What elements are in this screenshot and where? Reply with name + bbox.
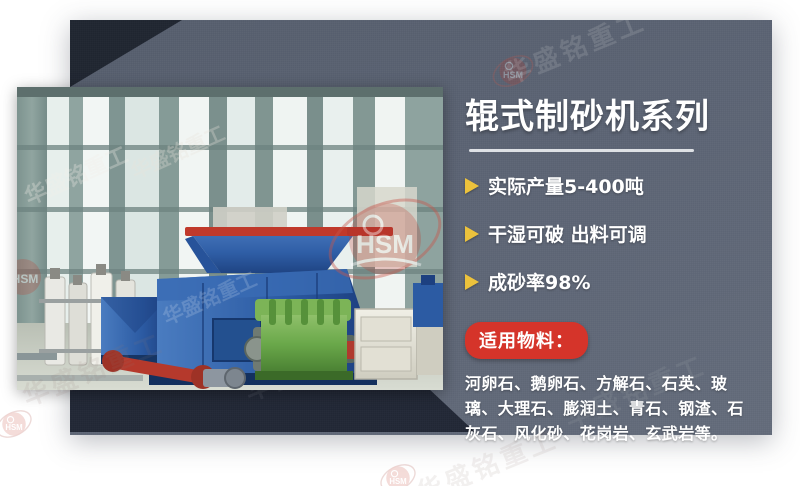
hsm-logo-icon: HSM [490, 48, 536, 94]
feature-label: 干湿可破 出料可调 [488, 220, 647, 247]
hsm-logo-icon: HSM [378, 458, 418, 486]
list-item: 干湿可破 出料可调 [465, 220, 765, 247]
arrow-right-icon [465, 274, 479, 290]
feature-label: 成砂率98% [488, 268, 590, 295]
title-divider [469, 149, 694, 152]
svg-text:HSM: HSM [503, 70, 523, 80]
product-photo-image: 华盛铭重工 华盛铭重工 华盛铭重工 HSM HSM [17, 87, 443, 390]
hsm-logo-icon: HSM [0, 404, 34, 444]
materials-text: 河卵石、鹅卵石、方解石、石英、玻璃、大理石、膨润土、青石、钢渣、石灰石、风化砂、… [465, 371, 760, 446]
watermark-brand-top: 华盛铭重工 [499, 20, 652, 92]
watermark-logo-outer-left: HSM [0, 404, 34, 448]
page-title: 辊式制砂机系列 [465, 95, 765, 139]
svg-text:HSM: HSM [5, 423, 22, 432]
feature-label: 实际产量5-400吨 [488, 172, 644, 199]
watermark-logo-outer-bottom: HSM [378, 458, 418, 486]
list-item: 实际产量5-400吨 [465, 172, 765, 199]
panel-corner-wedge [70, 20, 260, 87]
status-badge: 适用物料： [465, 322, 588, 359]
list-item: 成砂率98% [465, 268, 765, 295]
slide-canvas: HSM 华盛铭重工 华盛铭重工 HSM 华盛铭重工 [0, 0, 800, 486]
arrow-right-icon [465, 226, 479, 242]
svg-text:HSM: HSM [17, 272, 38, 286]
product-info: 辊式制砂机系列 实际产量5-400吨 干湿可破 出料可调 成砂率98% 适用物料… [465, 95, 765, 446]
watermark-logo-top: HSM [490, 48, 536, 94]
svg-text:HSM: HSM [389, 477, 406, 486]
arrow-right-icon [465, 178, 479, 194]
product-photo: 华盛铭重工 华盛铭重工 华盛铭重工 HSM HSM [17, 87, 443, 390]
feature-list: 实际产量5-400吨 干湿可破 出料可调 成砂率98% [465, 172, 765, 295]
svg-text:HSM: HSM [356, 229, 414, 259]
